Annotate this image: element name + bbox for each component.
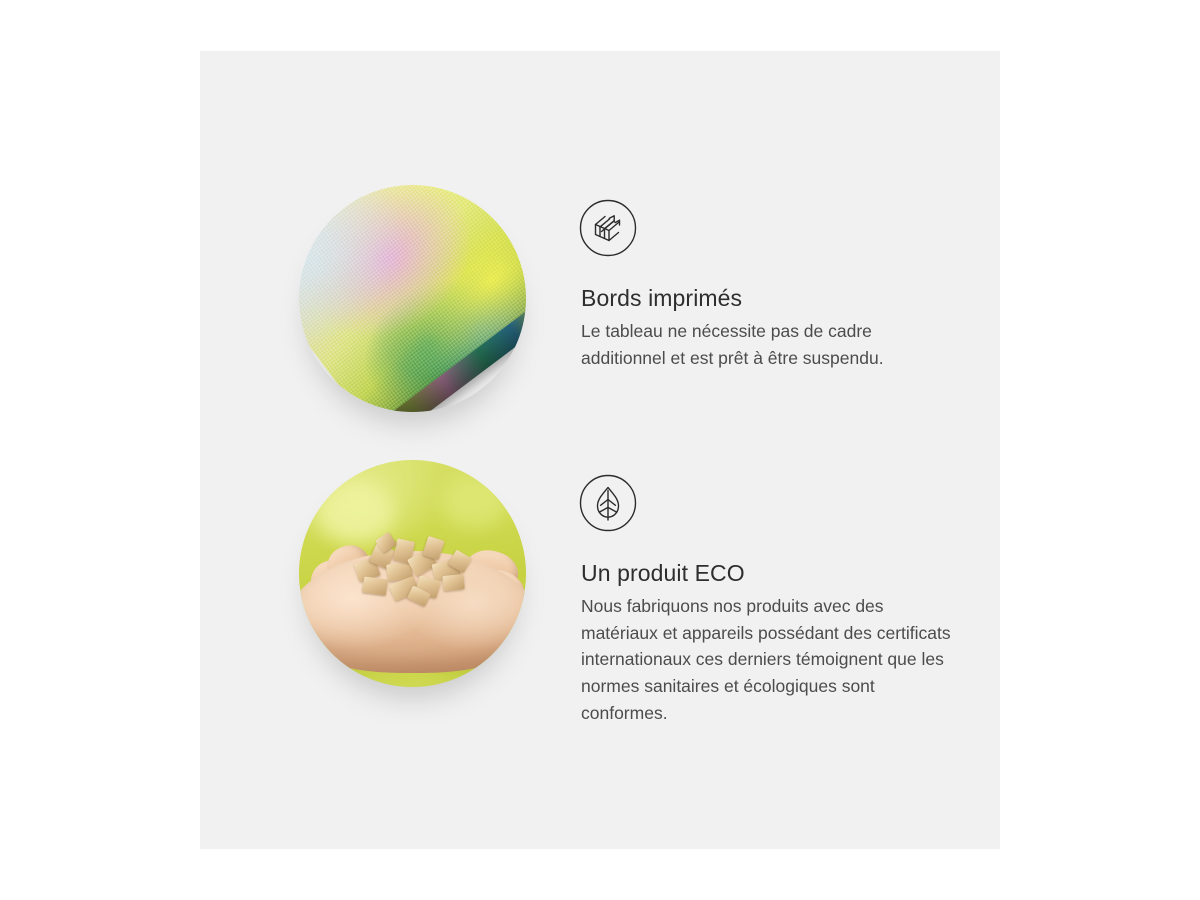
feature-description: Nous fabriquons nos produits avec des ma… xyxy=(581,593,951,726)
leaf-icon xyxy=(579,474,637,532)
printed-edges-icon xyxy=(579,199,637,257)
product-feature-graphic: Bords imprimés Le tableau ne nécessite p… xyxy=(0,0,1200,900)
canvas-scene xyxy=(299,185,526,412)
eco-text-block: Un produit ECO Nous fabriquons nos produ… xyxy=(581,560,951,726)
meadow-highlight xyxy=(440,474,508,528)
feature-panel: Bords imprimés Le tableau ne nécessite p… xyxy=(200,51,1000,849)
canvas-print-corner-photo xyxy=(299,185,526,412)
eco-scene xyxy=(299,460,526,687)
printed-edges-text-block: Bords imprimés Le tableau ne nécessite p… xyxy=(581,285,951,371)
wood-chips-pile xyxy=(351,535,483,612)
feature-description: Le tableau ne nécessite pas de cadre add… xyxy=(581,318,951,371)
feature-title: Un produit ECO xyxy=(581,560,951,587)
feature-title: Bords imprimés xyxy=(581,285,951,312)
wood-chip xyxy=(443,574,466,592)
meadow-highlight xyxy=(317,483,394,542)
hands-holding-wood-chips-photo xyxy=(299,460,526,687)
wood-chip xyxy=(362,577,388,596)
